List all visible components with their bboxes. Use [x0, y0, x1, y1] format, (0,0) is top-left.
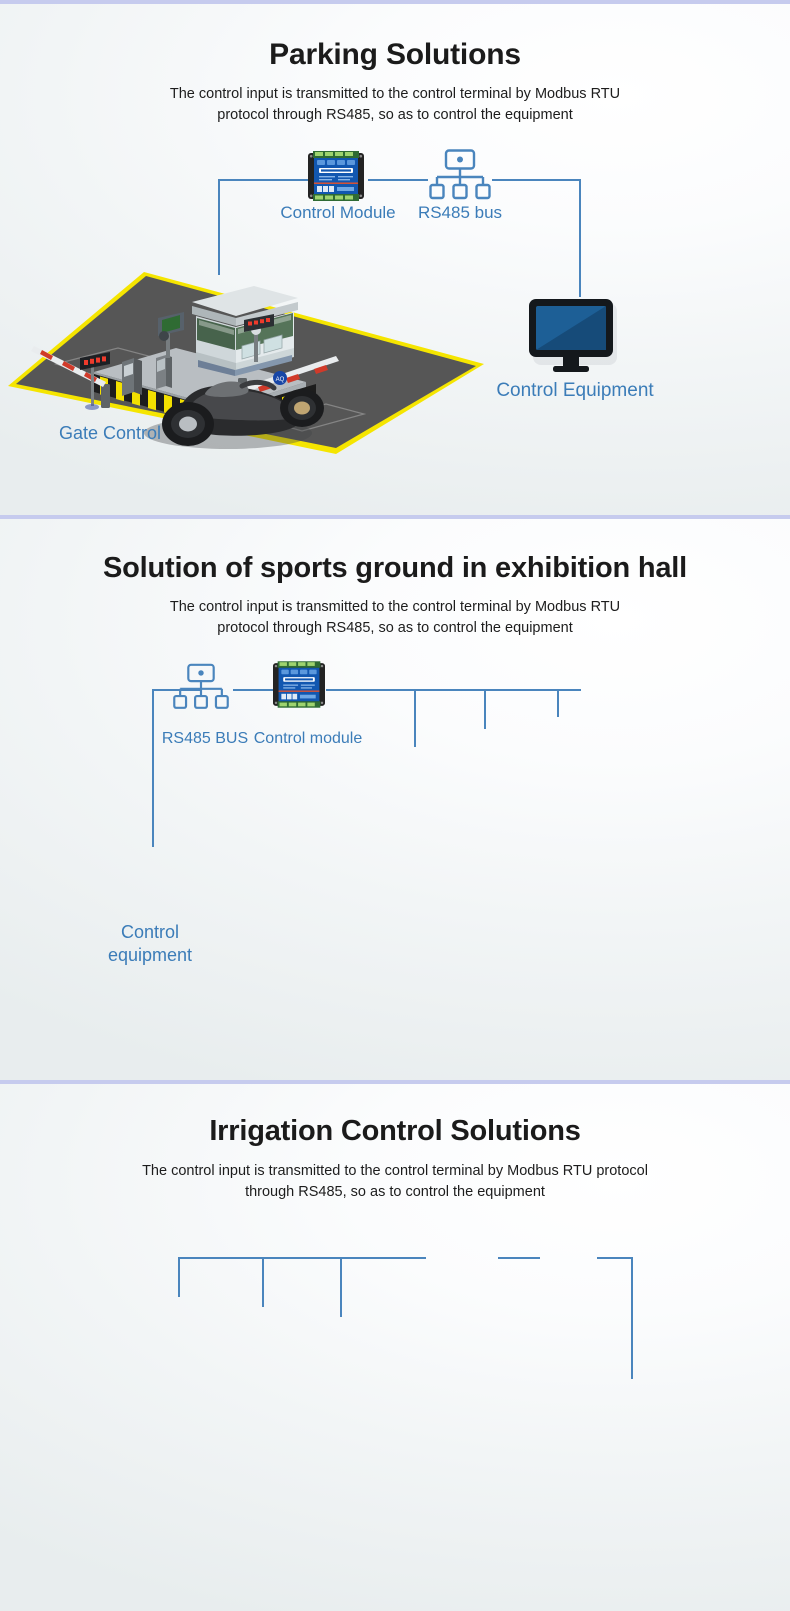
connector-bus-to-equipment [492, 179, 580, 181]
subtitle-exhibition-line2: protocol through RS485, so as to control… [0, 618, 790, 639]
label-control-equipment: Control Equipment [455, 381, 695, 402]
subtitle-exhibition-line1: The control input is transmitted to the … [0, 597, 790, 618]
page-title-parking: Parking Solutions [0, 38, 790, 72]
section-parking: Parking Solutions The control input is t… [0, 4, 790, 515]
label-gate-control: Gate Control [20, 424, 200, 443]
connector-bus-to-module [233, 689, 273, 691]
subtitle-parking-line1: The control input is transmitted to the … [0, 84, 790, 105]
page-title-exhibition: Solution of sports ground in exhibition … [0, 552, 790, 585]
control-module-device-icon [273, 661, 325, 708]
connector-solenoid-drop [178, 1257, 180, 1297]
subtitle-parking-line2: protocol through RS485, so as to control… [0, 105, 790, 126]
connector-equipment-drop [579, 179, 581, 297]
svg-text:AQ: AQ [276, 377, 285, 383]
label-control-module: Control Module [258, 204, 418, 222]
label-control-equipment-line1: Control [90, 923, 210, 942]
connector-machinery-drop [262, 1257, 264, 1307]
connector-module-to-bus [368, 179, 428, 181]
infographic-page: Parking Solutions The control input is t… [0, 0, 790, 1611]
section-irrigation: Irrigation Control Solutions The control… [0, 1084, 790, 1611]
connector-module-to-bus [498, 1257, 540, 1259]
connector-viewlights-drop [557, 689, 559, 717]
label-rs485-bus: RS485 BUS [155, 730, 255, 747]
subtitle-irrigation-line2: through RS485, so as to control the equi… [0, 1182, 790, 1203]
label-control-equipment-line2: equipment [80, 946, 220, 965]
label-control-module: Control module [253, 730, 363, 747]
connector-gate-to-module [218, 179, 312, 181]
connector-streetlamp-drop [484, 689, 486, 729]
connector-pump-drop [340, 1257, 342, 1317]
connector-bus-to-equipment [597, 1257, 633, 1259]
page-title-irrigation: Irrigation Control Solutions [0, 1115, 790, 1148]
connector-cinema-drop [414, 689, 416, 747]
label-rs485-bus: RS485 bus [405, 204, 515, 222]
control-module-device-icon [308, 151, 364, 201]
connector-equipment-drop [631, 1257, 633, 1379]
connector-equipment-drop [152, 689, 154, 847]
rs485-bus-icon [428, 149, 492, 201]
section-exhibition: Solution of sports ground in exhibition … [0, 519, 790, 1080]
rs485-bus-icon [172, 663, 230, 711]
subtitle-irrigation-line1: The control input is transmitted to the … [0, 1161, 790, 1182]
connector-module-spine [326, 689, 581, 691]
connector-gate-drop [218, 179, 220, 275]
monitor-icon [527, 297, 623, 377]
connector-devices-spine [178, 1257, 426, 1259]
